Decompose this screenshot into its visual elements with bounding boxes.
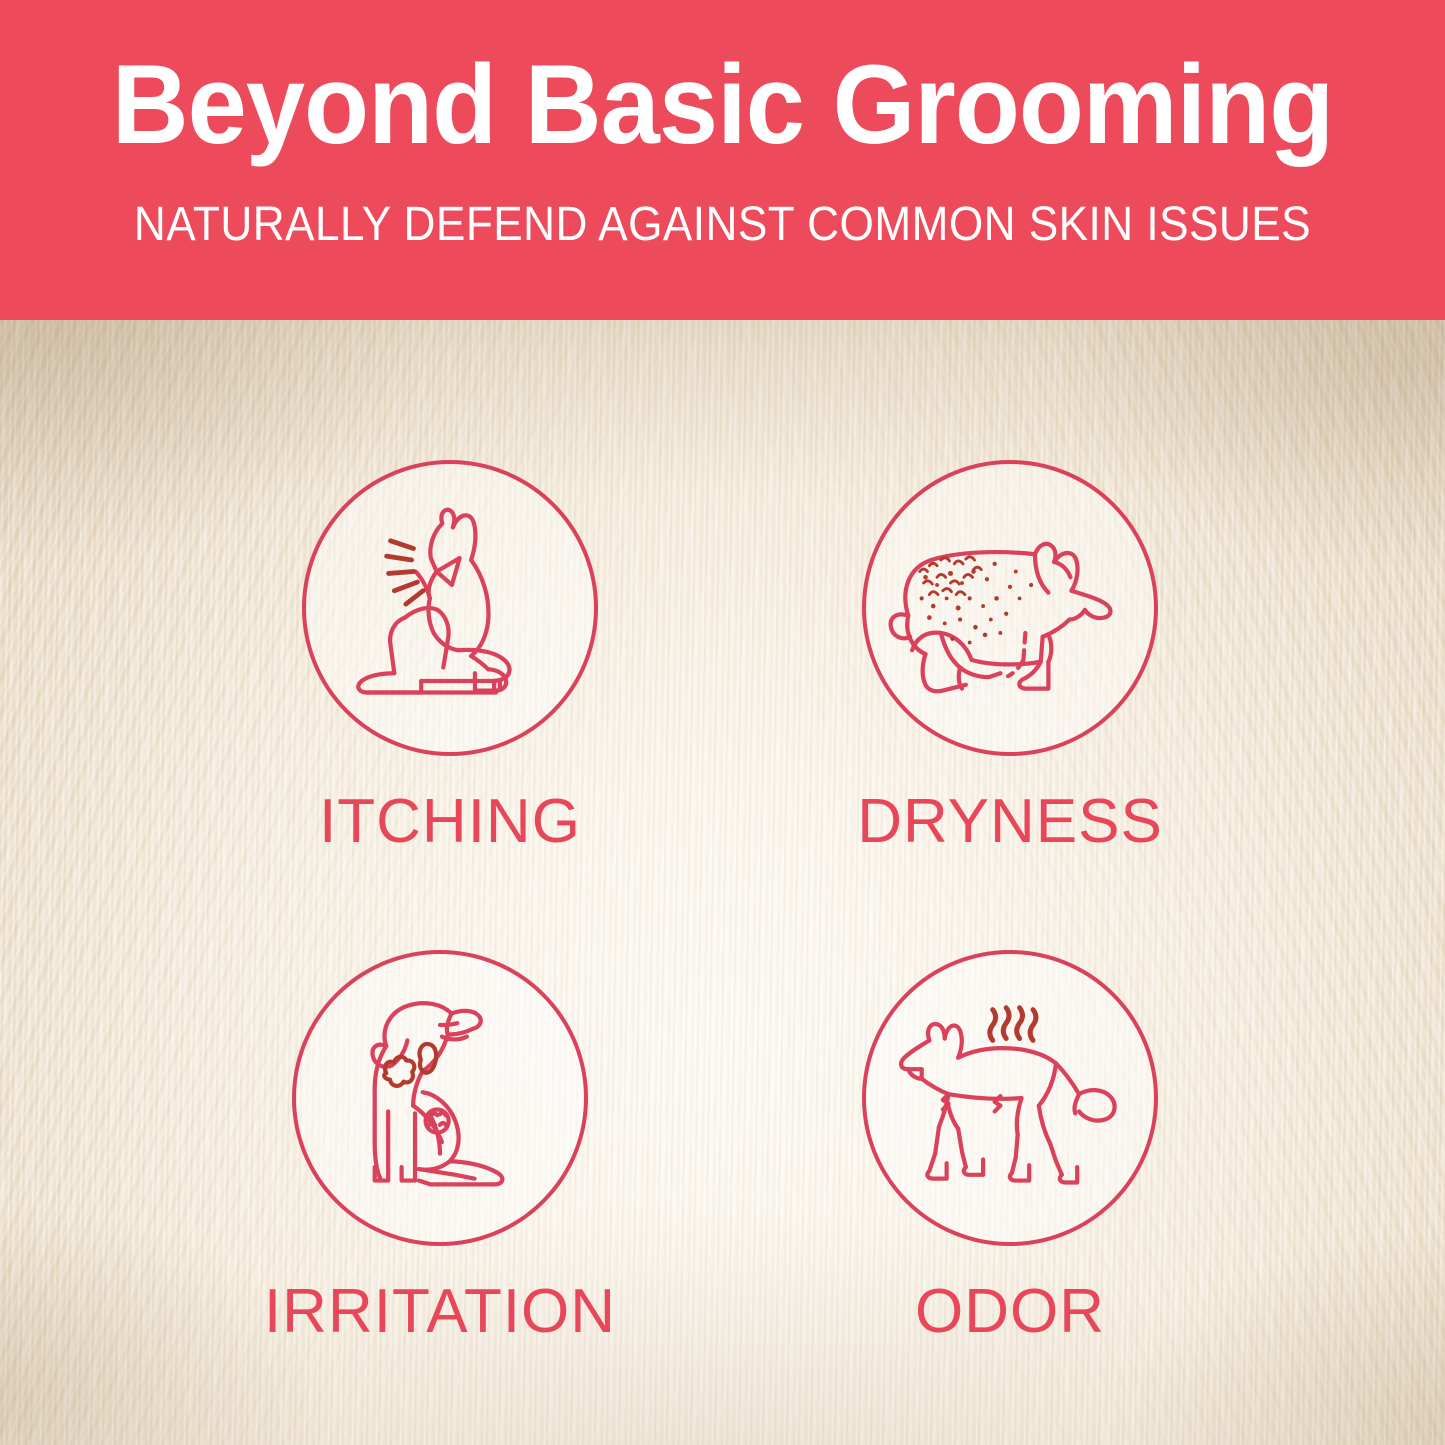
benefit-item-dryness[interactable]: DRYNESS [790,460,1230,858]
dog-scratching-icon [302,460,598,756]
dog-irritated-skin-icon [292,950,588,1246]
header-banner: Beyond Basic Grooming NATURALLY DEFEND A… [0,0,1445,320]
benefits-grid: ITCHING [0,320,1445,1445]
benefit-label-dryness: DRYNESS [790,786,1230,858]
page-title: Beyond Basic Grooming [36,44,1409,166]
page-subtitle: NATURALLY DEFEND AGAINST COMMON SKIN ISS… [58,196,1387,254]
benefit-label-odor: ODOR [790,1276,1230,1348]
dog-dandruff-icon [862,460,1158,756]
benefit-label-irritation: IRRITATION [220,1276,660,1348]
grooming-benefits-poster: Beyond Basic Grooming NATURALLY DEFEND A… [0,0,1445,1445]
benefit-item-irritation[interactable]: IRRITATION [220,950,660,1348]
benefit-label-itching: ITCHING [230,786,670,858]
dog-odor-icon [862,950,1158,1246]
benefit-item-odor[interactable]: ODOR [790,950,1230,1348]
benefit-item-itching[interactable]: ITCHING [230,460,670,858]
